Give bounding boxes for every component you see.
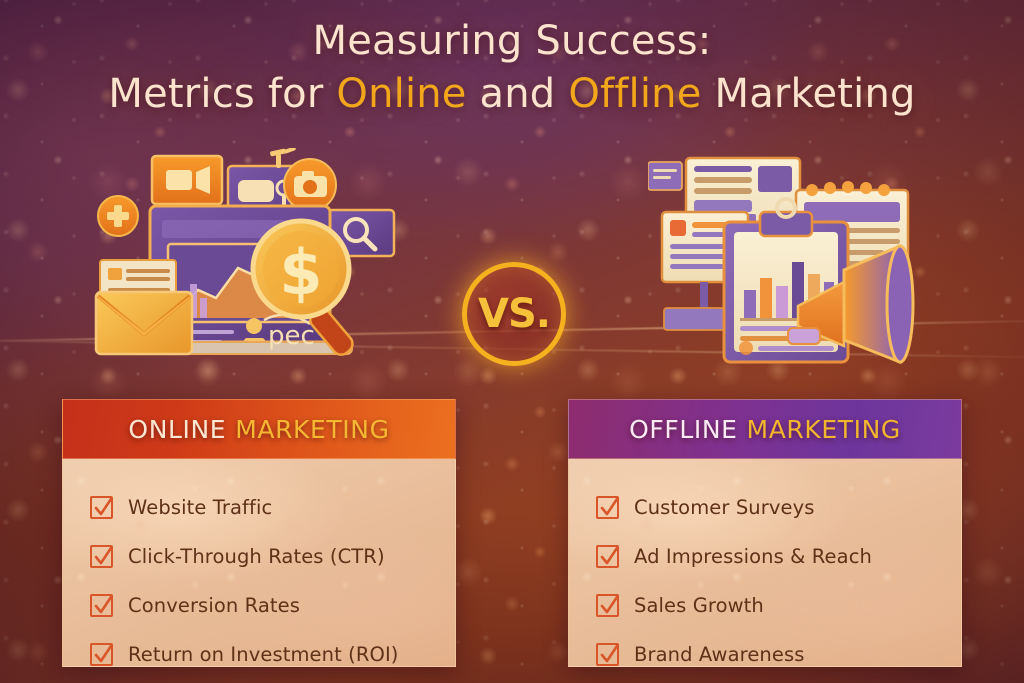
list-item[interactable]: Brand Awareness	[596, 630, 961, 679]
checkbox-icon[interactable]	[90, 545, 113, 568]
offline-marketing-panel: OFFLINE MARKETING Customer Surveys Ad Im…	[568, 399, 962, 667]
list-item-label: Ad Impressions & Reach	[634, 545, 872, 568]
offline-panel-header: OFFLINE MARKETING	[568, 399, 962, 459]
title-segment-marketing: Marketing	[702, 71, 916, 117]
title-line-1: Measuring Success:	[0, 18, 1024, 65]
back-card-small	[648, 162, 682, 190]
checkbox-icon[interactable]	[90, 594, 113, 617]
list-item-label: Sales Growth	[634, 594, 764, 617]
digital-marketing-illustration: pec $	[88, 148, 398, 368]
svg-text:$: $	[279, 236, 322, 309]
envelope-icon	[96, 292, 192, 354]
plus-icon	[98, 196, 138, 236]
checkbox-icon[interactable]	[596, 594, 619, 617]
list-item[interactable]: Return on Investment (ROI)	[90, 630, 455, 679]
list-item[interactable]: Website Traffic	[90, 483, 455, 532]
video-icon	[152, 156, 222, 204]
online-header-word1: ONLINE	[128, 415, 226, 444]
offline-panel-body: Customer Surveys Ad Impressions & Reach …	[568, 459, 962, 667]
list-item-label: Click-Through Rates (CTR)	[128, 545, 385, 568]
list-item-label: Return on Investment (ROI)	[128, 643, 399, 666]
list-item[interactable]: Customer Surveys	[596, 483, 961, 532]
checkbox-icon[interactable]	[90, 643, 113, 666]
checkbox-icon[interactable]	[90, 496, 113, 519]
title-segment-metrics-for: Metrics for	[108, 71, 336, 117]
list-item[interactable]: Conversion Rates	[90, 581, 455, 630]
traditional-marketing-illustration	[648, 150, 948, 365]
vs-badge: VS.	[462, 262, 566, 366]
list-item[interactable]: Sales Growth	[596, 581, 961, 630]
checkbox-icon[interactable]	[596, 643, 619, 666]
svg-text:pec: pec	[268, 321, 315, 351]
online-marketing-panel: ONLINE MARKETING Website Traffic Click-T…	[62, 399, 456, 667]
title-line-2: Metrics for Online and Offline Marketing	[0, 71, 1024, 118]
list-item-label: Website Traffic	[128, 496, 272, 519]
list-item-label: Brand Awareness	[634, 643, 805, 666]
title-highlight-online: Online	[336, 71, 466, 117]
online-panel-header: ONLINE MARKETING	[62, 399, 456, 459]
checkbox-icon[interactable]	[596, 545, 619, 568]
list-item-label: Customer Surveys	[634, 496, 815, 519]
offline-header-word1: OFFLINE	[629, 415, 737, 444]
title-block: Measuring Success: Metrics for Online an…	[0, 18, 1024, 118]
online-header-word2: MARKETING	[235, 415, 389, 444]
online-panel-body: Website Traffic Click-Through Rates (CTR…	[62, 459, 456, 667]
infographic-canvas: Measuring Success: Metrics for Online an…	[0, 0, 1024, 683]
digital-illustration-svg: pec $	[88, 148, 398, 368]
offline-header-word2: MARKETING	[747, 415, 901, 444]
camera-icon	[284, 159, 336, 211]
list-item[interactable]: Ad Impressions & Reach	[596, 532, 961, 581]
title-segment-and: and	[467, 71, 569, 117]
checkbox-icon[interactable]	[596, 496, 619, 519]
list-item-label: Conversion Rates	[128, 594, 300, 617]
traditional-illustration-svg	[648, 150, 948, 365]
title-highlight-offline: Offline	[568, 71, 701, 117]
vs-label: VS.	[478, 291, 550, 337]
list-item[interactable]: Click-Through Rates (CTR)	[90, 532, 455, 581]
pec-logo: pec	[264, 315, 315, 351]
